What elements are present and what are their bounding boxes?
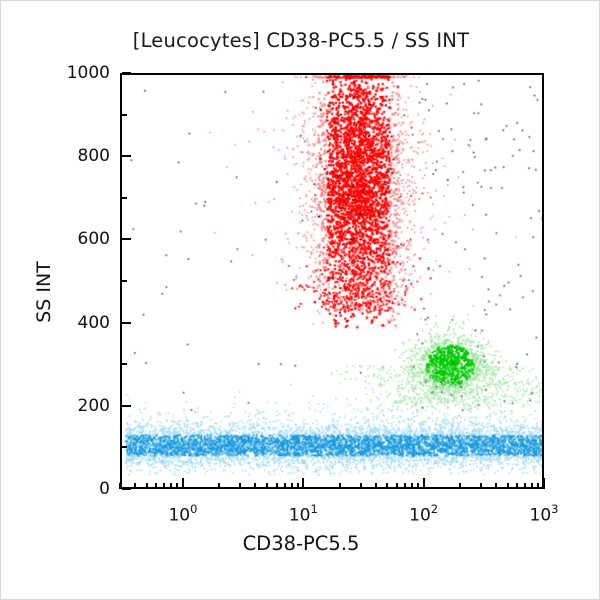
x-axis-minor-tick [239, 483, 241, 489]
y-axis-minor-tick [122, 114, 127, 116]
scatter-points-canvas [122, 75, 542, 487]
x-axis-minor-tick [404, 483, 406, 489]
x-axis-minor-tick [386, 483, 388, 489]
x-axis-minor-tick [537, 483, 539, 489]
y-axis-tick-label: 200 [32, 396, 110, 416]
x-axis-minor-tick [531, 483, 533, 489]
x-axis-minor-tick [516, 483, 518, 489]
y-axis-major-tick [122, 405, 131, 407]
flow-cytometry-plot: [Leucocytes] CD38-PC5.5 / SS INT 0200400… [0, 0, 600, 600]
x-axis-minor-tick [254, 483, 256, 489]
x-axis-minor-tick [507, 483, 509, 489]
x-axis-minor-tick [163, 483, 165, 489]
x-axis-minor-tick [119, 483, 121, 489]
x-axis-minor-tick [170, 483, 172, 489]
y-axis-tick-label: 0 [32, 479, 110, 499]
x-axis-minor-tick [375, 483, 377, 489]
x-axis-tick-label: 103 [530, 503, 559, 526]
x-axis-minor-tick [266, 483, 268, 489]
x-axis-minor-tick [176, 483, 178, 489]
plot-title: [Leucocytes] CD38-PC5.5 / SS INT [1, 29, 600, 52]
y-axis-tick-label: 800 [32, 146, 110, 166]
x-axis-minor-tick [276, 483, 278, 489]
y-axis-title: SS INT [33, 227, 55, 357]
x-axis-minor-tick [360, 483, 362, 489]
x-axis-minor-tick [459, 483, 461, 489]
y-axis-minor-tick [122, 280, 127, 282]
x-axis-minor-tick [297, 483, 299, 489]
x-axis-minor-tick [218, 483, 220, 489]
x-axis-minor-tick [339, 483, 341, 489]
x-axis-minor-tick [134, 483, 136, 489]
y-axis-tick-label: 1000 [32, 63, 110, 83]
x-axis-minor-tick [417, 483, 419, 489]
y-axis-major-tick [122, 488, 131, 490]
x-axis-minor-tick [396, 483, 398, 489]
y-axis-major-tick [122, 72, 131, 74]
x-axis-tick-label: 102 [409, 503, 438, 526]
x-axis-tick-label: 100 [168, 503, 197, 526]
x-axis-major-tick [423, 478, 425, 489]
y-axis-minor-tick [122, 446, 127, 448]
x-axis-minor-tick [524, 483, 526, 489]
x-axis-minor-tick [480, 483, 482, 489]
x-axis-major-tick [302, 478, 304, 489]
x-axis-minor-tick [146, 483, 148, 489]
plot-area [120, 73, 544, 489]
x-axis-minor-tick [411, 483, 413, 489]
x-axis-minor-tick [291, 483, 293, 489]
x-axis-major-tick [182, 478, 184, 489]
x-axis-minor-tick [495, 483, 497, 489]
y-axis-minor-tick [122, 363, 127, 365]
x-axis-title: CD38-PC5.5 [1, 532, 600, 555]
x-axis-major-tick [543, 478, 545, 489]
y-axis-minor-tick [122, 197, 127, 199]
y-axis-major-tick [122, 155, 131, 157]
y-axis-major-tick [122, 238, 131, 240]
x-axis-minor-tick [284, 483, 286, 489]
y-axis-major-tick [122, 322, 131, 324]
x-axis-tick-label: 101 [289, 503, 318, 526]
x-axis-minor-tick [155, 483, 157, 489]
